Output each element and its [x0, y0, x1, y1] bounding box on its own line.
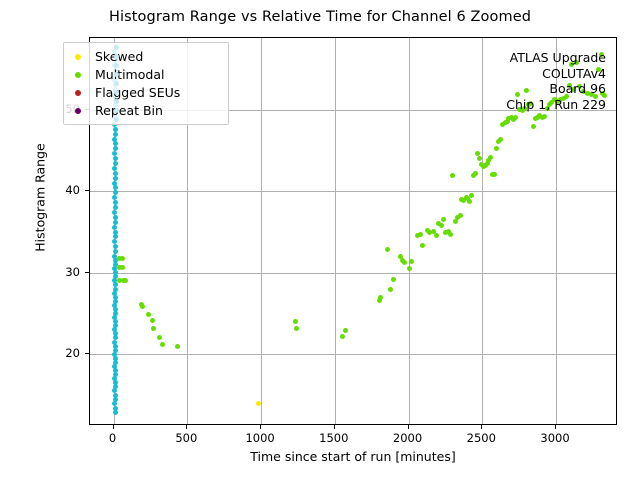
x-axis-label: Time since start of run [minutes] — [89, 449, 617, 464]
data-point — [113, 220, 118, 225]
data-point — [114, 90, 119, 95]
data-point — [112, 225, 117, 230]
data-point — [450, 173, 455, 178]
x-tick-label: 1500 — [319, 431, 348, 445]
x-tick-label: 2000 — [393, 431, 422, 445]
data-point — [467, 199, 472, 204]
annotation-line: Board 96 — [506, 81, 606, 97]
x-tick — [481, 425, 482, 429]
x-tick — [186, 425, 187, 429]
data-point — [513, 115, 518, 120]
x-tick-label: 3000 — [540, 431, 569, 445]
data-point — [492, 172, 497, 177]
x-tick — [408, 425, 409, 429]
data-point — [113, 176, 118, 181]
data-point — [113, 132, 118, 137]
legend-item-label: Multimodal — [95, 67, 164, 82]
annotation-line: COLUTAv4 — [506, 66, 606, 82]
data-point — [448, 232, 453, 237]
data-point — [112, 401, 117, 406]
x-tick — [334, 425, 335, 429]
data-point — [531, 124, 536, 129]
y-tick — [85, 190, 89, 191]
x-tick-label: 0 — [109, 431, 116, 445]
data-point — [114, 108, 119, 113]
gridline-vertical — [482, 38, 483, 424]
data-point — [114, 99, 119, 104]
legend-marker-icon — [70, 47, 86, 66]
x-tick-label: 500 — [175, 431, 197, 445]
gridline-vertical — [335, 38, 336, 424]
y-tick — [85, 272, 89, 273]
gridline-vertical — [261, 38, 262, 424]
data-point — [157, 335, 162, 340]
annotation-line: Chip 1, Run 229 — [506, 97, 606, 113]
legend-item-label: Skewed — [95, 49, 143, 64]
data-point — [150, 318, 155, 323]
x-tick — [555, 425, 556, 429]
data-point — [473, 171, 478, 176]
legend[interactable]: SkewedMultimodalFlagged SEUsRepeat Bin — [63, 42, 229, 125]
legend-marker-icon — [70, 83, 86, 102]
data-point — [434, 233, 439, 238]
data-point — [114, 54, 119, 59]
data-point — [441, 217, 446, 222]
data-point — [114, 81, 119, 86]
legend-item-label: Flagged SEUs — [95, 85, 180, 100]
data-point — [542, 114, 547, 119]
legend-item-multimodal[interactable]: Multimodal — [70, 65, 222, 83]
data-point — [388, 287, 393, 292]
data-point — [420, 243, 425, 248]
data-point — [123, 278, 128, 283]
gridline-vertical — [409, 38, 410, 424]
legend-item-label: Repeat Bin — [95, 103, 163, 118]
data-point — [439, 223, 444, 228]
data-point — [175, 344, 180, 349]
legend-item-repeat-bin[interactable]: Repeat Bin — [70, 101, 222, 119]
y-tick — [85, 353, 89, 354]
data-point — [402, 260, 407, 265]
x-tick-label: 1000 — [245, 431, 274, 445]
gridline-horizontal — [90, 354, 616, 355]
data-point — [113, 410, 118, 415]
gridline-horizontal — [90, 273, 616, 274]
page-title: Histogram Range vs Relative Time for Cha… — [0, 9, 640, 25]
data-point — [343, 328, 348, 333]
data-point — [140, 304, 145, 309]
data-point — [151, 326, 156, 331]
x-tick — [260, 425, 261, 429]
data-point — [498, 137, 503, 142]
legend-marker-icon — [70, 65, 86, 84]
data-point — [488, 155, 493, 160]
data-point — [458, 213, 463, 218]
data-point — [114, 45, 119, 50]
data-point — [160, 342, 165, 347]
data-point — [418, 232, 423, 237]
data-point — [120, 256, 125, 261]
x-tick — [113, 425, 114, 429]
data-point — [391, 277, 396, 282]
data-point — [293, 319, 298, 324]
data-point — [494, 146, 499, 151]
corner-annotation: ATLAS UpgradeCOLUTAv4Board 96Chip 1, Run… — [506, 50, 606, 112]
data-point — [114, 63, 119, 68]
data-point — [469, 193, 474, 198]
y-tick-label: 20 — [0, 346, 80, 360]
data-point — [477, 156, 482, 161]
data-point — [114, 117, 119, 122]
data-point — [340, 334, 345, 339]
legend-item-flagged-seus[interactable]: Flagged SEUs — [70, 83, 222, 101]
scatter-figure: Histogram Range vs Relative Time for Cha… — [0, 0, 640, 480]
x-tick-label: 2500 — [467, 431, 496, 445]
data-point — [114, 72, 119, 77]
data-point — [409, 259, 414, 264]
data-point — [385, 247, 390, 252]
data-point — [378, 295, 383, 300]
y-axis-label: Histogram Range — [33, 68, 48, 328]
data-point — [294, 326, 299, 331]
legend-item-skewed[interactable]: Skewed — [70, 47, 222, 65]
data-point — [146, 312, 151, 317]
annotation-line: ATLAS Upgrade — [506, 50, 606, 66]
data-point — [120, 265, 125, 270]
gridline-horizontal — [90, 191, 616, 192]
legend-marker-icon — [70, 101, 86, 120]
data-point — [407, 266, 412, 271]
